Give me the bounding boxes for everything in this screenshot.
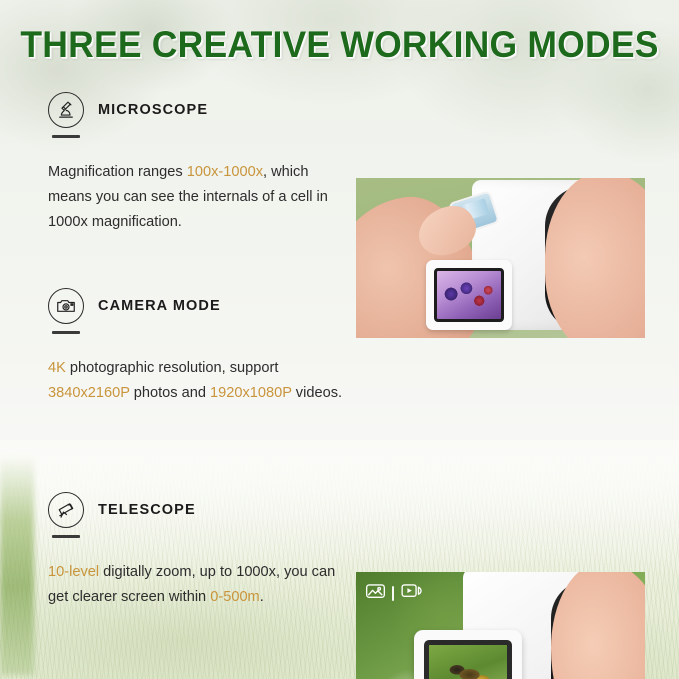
body-text-run: videos. xyxy=(292,385,342,401)
camera-body-text: 4K photographic resolution, support 3840… xyxy=(48,356,344,406)
body-text-run: photos and xyxy=(130,385,210,401)
telescope-body-text: 10-level digitally zoom, up to 1000x, yo… xyxy=(48,560,344,610)
microscope-label: MICROSCOPE xyxy=(98,102,208,118)
telescope-icon-underline xyxy=(52,535,80,538)
telescope-text-column: TELESCOPE 10-level digitally zoom, up to… xyxy=(48,492,344,610)
camera-heading-row: CAMERA MODE xyxy=(48,288,344,324)
telescope-icon xyxy=(48,492,84,528)
highlight-text: 4K xyxy=(48,360,66,376)
section-telescope: TELESCOPE 10-level digitally zoom, up to… xyxy=(0,492,679,662)
camera-icon xyxy=(48,288,84,324)
camera-icon-underline xyxy=(52,331,80,334)
highlight-text: 100x-1000x xyxy=(187,164,263,180)
microscope-icon xyxy=(48,92,84,128)
camera-text-column: CAMERA MODE 4K photographic resolution, … xyxy=(48,288,344,406)
telescope-label: TELESCOPE xyxy=(98,502,196,518)
section-microscope: MICROSCOPE Magnification ranges 100x-100… xyxy=(0,92,679,262)
microscope-text-column: MICROSCOPE Magnification ranges 100x-100… xyxy=(48,92,344,235)
telescope-heading-row: TELESCOPE xyxy=(48,492,344,528)
body-text-run: . xyxy=(260,589,264,605)
microscope-body-text: Magnification ranges 100x-1000x, which m… xyxy=(48,160,344,235)
body-text-run: photographic resolution, support xyxy=(66,360,279,376)
infographic-page: THREE CREATIVE WORKING MODES MICROSCOPE … xyxy=(0,0,679,679)
microscope-icon-underline xyxy=(52,135,80,138)
page-title: THREE CREATIVE WORKING MODES xyxy=(14,24,666,66)
highlight-text: 1920x1080P xyxy=(210,385,292,401)
body-text-run: Magnification ranges xyxy=(48,164,187,180)
highlight-text: 0-500m xyxy=(210,589,259,605)
section-camera-mode: CAMERA MODE 4K photographic resolution, … xyxy=(0,288,679,463)
highlight-text: 10-level xyxy=(48,564,99,580)
highlight-text: 3840x2160P xyxy=(48,385,130,401)
microscope-heading-row: MICROSCOPE xyxy=(48,92,344,128)
camera-label: CAMERA MODE xyxy=(98,298,221,314)
